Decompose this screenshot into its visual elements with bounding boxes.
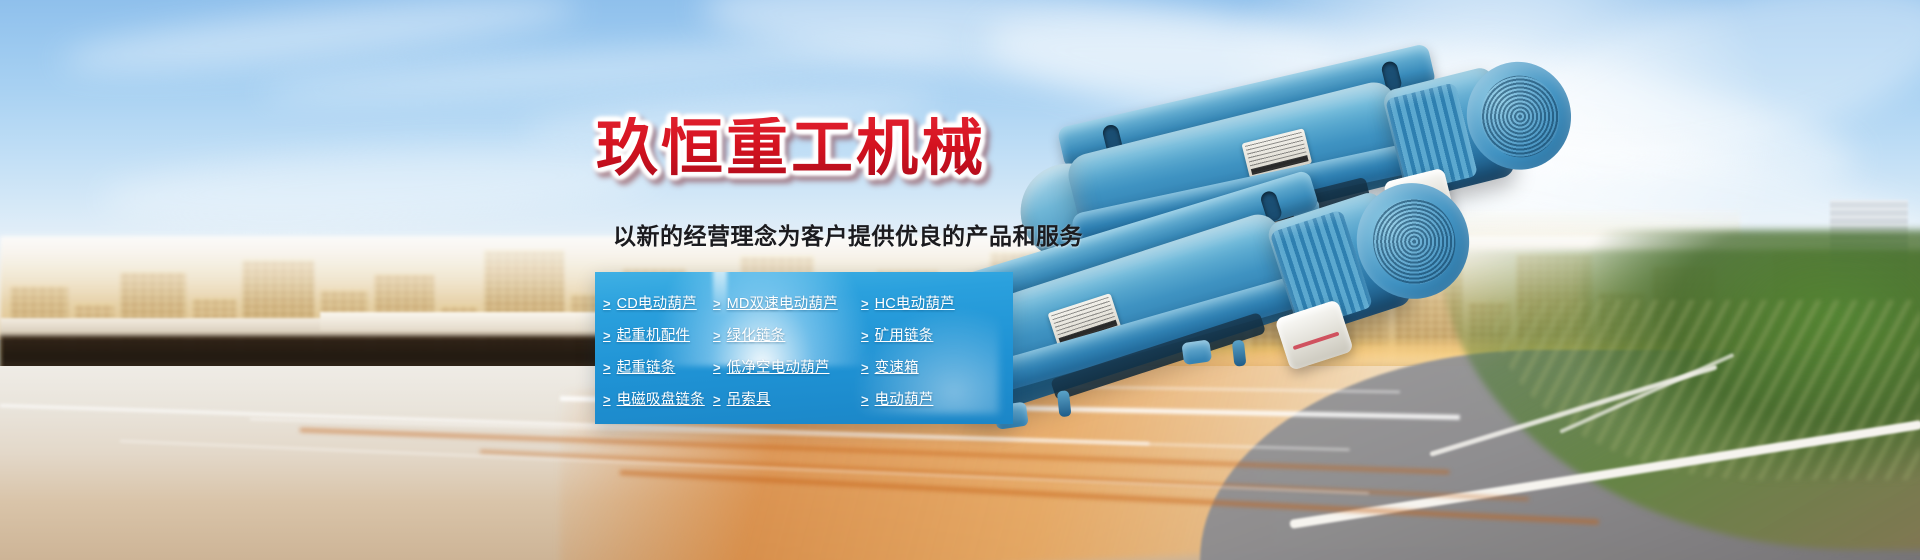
product-link-label: CD电动葫芦 bbox=[617, 296, 697, 312]
chevron-right-icon: > bbox=[603, 360, 611, 376]
product-link-label: 电磁吸盘链条 bbox=[617, 392, 705, 408]
product-link-label: 变速箱 bbox=[875, 360, 919, 376]
chevron-right-icon: > bbox=[603, 328, 611, 344]
product-link-label: 起重链条 bbox=[617, 360, 676, 376]
chevron-right-icon: > bbox=[713, 296, 721, 312]
product-link-cd-hoist[interactable]: > CD电动葫芦 bbox=[603, 296, 713, 312]
product-link-label: 吊索具 bbox=[727, 392, 771, 408]
product-link-gearbox[interactable]: > 变速箱 bbox=[861, 360, 1013, 376]
product-link-label: 低净空电动葫芦 bbox=[727, 360, 830, 376]
product-link-lifting-chain[interactable]: > 起重链条 bbox=[603, 360, 713, 376]
chevron-right-icon: > bbox=[861, 296, 869, 312]
product-link-magnetic-chuck-chain[interactable]: > 电磁吸盘链条 bbox=[603, 392, 713, 408]
product-link-label: 起重机配件 bbox=[617, 328, 691, 344]
banner-subtitle: 以新的经营理念为客户提供优良的产品和服务 bbox=[613, 223, 1083, 249]
product-links-grid: > CD电动葫芦 > MD双速电动葫芦 > HC电动葫芦 > 起重机配件 > bbox=[595, 288, 1013, 420]
product-link-md-dual-speed-hoist[interactable]: > MD双速电动葫芦 bbox=[713, 296, 861, 312]
chevron-right-icon: > bbox=[603, 392, 611, 408]
product-link-label: MD双速电动葫芦 bbox=[727, 296, 838, 312]
chevron-right-icon: > bbox=[713, 360, 721, 376]
product-link-label: 绿化链条 bbox=[727, 328, 786, 344]
chevron-right-icon: > bbox=[713, 328, 721, 344]
chevron-right-icon: > bbox=[861, 392, 869, 408]
product-link-crane-parts[interactable]: > 起重机配件 bbox=[603, 328, 713, 344]
product-links-panel: > CD电动葫芦 > MD双速电动葫芦 > HC电动葫芦 > 起重机配件 > bbox=[595, 272, 1013, 424]
hero-banner: 玖恒重工机械 以新的经营理念为客户提供优良的产品和服务 > CD电动葫芦 > M… bbox=[0, 0, 1920, 560]
product-link-label: HC电动葫芦 bbox=[875, 296, 955, 312]
chevron-right-icon: > bbox=[861, 328, 869, 344]
product-link-mining-chain[interactable]: > 矿用链条 bbox=[861, 328, 1013, 344]
chevron-right-icon: > bbox=[603, 296, 611, 312]
product-link-low-headroom-hoist[interactable]: > 低净空电动葫芦 bbox=[713, 360, 861, 376]
product-link-electric-hoist[interactable]: > 电动葫芦 bbox=[861, 392, 1013, 408]
product-link-greening-chain[interactable]: > 绿化链条 bbox=[713, 328, 861, 344]
chevron-right-icon: > bbox=[861, 360, 869, 376]
product-link-hc-hoist[interactable]: > HC电动葫芦 bbox=[861, 296, 1013, 312]
chevron-right-icon: > bbox=[713, 392, 721, 408]
banner-text-block: 玖恒重工机械 以新的经营理念为客户提供优良的产品和服务 > CD电动葫芦 > M… bbox=[0, 0, 1920, 560]
page-title: 玖恒重工机械 bbox=[596, 117, 986, 181]
product-link-slings[interactable]: > 吊索具 bbox=[713, 392, 861, 408]
product-link-label: 矿用链条 bbox=[875, 328, 934, 344]
product-link-label: 电动葫芦 bbox=[875, 392, 934, 408]
